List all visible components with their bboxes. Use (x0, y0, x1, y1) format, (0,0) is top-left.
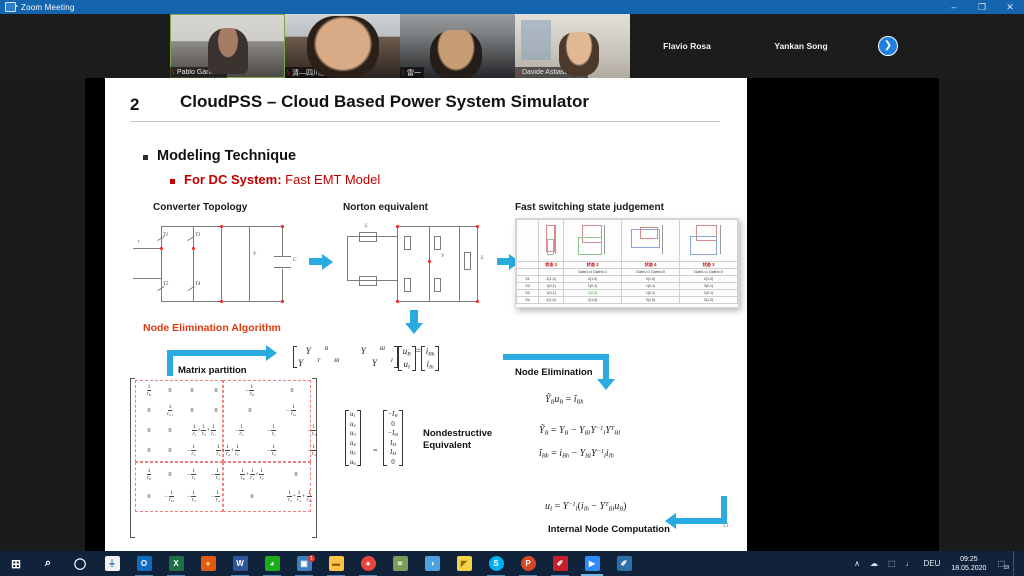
taskbar-microsoft-store[interactable]: ⏚ (96, 551, 128, 576)
task-view-button[interactable]: ◯ (64, 551, 96, 576)
table-cell: 2(1,0) (539, 297, 564, 304)
window-title: Zoom Meeting (21, 3, 75, 12)
switching-state-table: 状态 1 状态 2 状态 4 状态 3 Gate1=0 Gate4=1 Gate… (516, 219, 738, 304)
participant-name: Flavio Rosa (663, 41, 711, 51)
gate-header: Gate1=1 Gate4=0 (622, 269, 680, 276)
bullet-level2-rest: Fast EMT Model (282, 172, 381, 187)
participant-name: Davide Astiaso Ga... (522, 69, 585, 76)
gate-header (539, 269, 564, 276)
chrome-icon: ● (361, 556, 376, 571)
zoom-meeting-window: Zoom Meeting – ❐ ✕ \ Pablo Gándara \ 清—四… (0, 0, 1024, 576)
rhs-current-vector: −IW0 −IMIM IM0 (383, 410, 403, 466)
participant-thumbnails: \ Pablo Gándara \ 清—四川能源 \ 雷一 \ (170, 14, 918, 78)
table-row: S1 2(1,0) 2(1,0) 2(1,0) 2(1,0) (517, 276, 738, 283)
maps-icon: ⌗ (393, 556, 408, 571)
table-cell: 1(0,1) (622, 283, 680, 290)
slide-page-number: 11 (722, 522, 729, 529)
gate-header: Gate1=0 Gate4=1 (564, 269, 622, 276)
bullet-level2-bold: For DC System: (184, 172, 282, 187)
mic-muted-icon: \ (517, 69, 519, 77)
filmstrip-next-container: ❯ (858, 14, 918, 78)
equation-yb-definition: ỸB = YB − YBIY−1IYTBI (539, 425, 620, 437)
bullet-square-icon (143, 155, 148, 160)
taskbar-paint-3d[interactable]: ◑ (416, 551, 448, 576)
table-cell: 3(0,1) (680, 283, 738, 290)
slide-section-number: 2 (130, 95, 139, 115)
table-cell: 2(1,0) (564, 297, 622, 304)
clock[interactable]: 09:25 18.05.2020 (951, 555, 986, 573)
zoom-icon: ▶ (585, 556, 600, 571)
taskbar-wechat[interactable]: ◕ (256, 551, 288, 576)
taskbar-maps[interactable]: ⌗ (384, 551, 416, 576)
next-page-arrow-icon[interactable]: ❯ (878, 36, 898, 56)
taskbar-chrome[interactable]: ● (352, 551, 384, 576)
participant-name-badge: \ 雷一 (400, 67, 424, 78)
presentation-slide: 2 CloudPSS – Cloud Based Power System Si… (105, 78, 747, 551)
table-cell: 2(1,0) (680, 297, 738, 304)
taskbar-paint[interactable]: ✐ (608, 551, 640, 576)
equation-reduced-system: ỸBuB = ĩBh (545, 394, 583, 406)
skype-icon: S (489, 556, 504, 571)
taskbar-word[interactable]: W (224, 551, 256, 576)
window-titlebar: Zoom Meeting – ❐ ✕ (0, 0, 1024, 14)
paint-icon: ✐ (617, 556, 632, 571)
table-cell: 2(1,0) (564, 276, 622, 283)
participant-name: Pablo Gándara (177, 69, 224, 76)
tray-chevron-icon[interactable]: ∧ (854, 559, 860, 568)
taskbar-sticky-notes[interactable]: ◤ (448, 551, 480, 576)
participant-name-badge: \ 清—四川能源 (285, 67, 337, 78)
nondestructive-equivalent-line1: Nondestructive (423, 428, 492, 439)
mic-muted-icon: \ (402, 69, 404, 77)
state-circuit-thumb (564, 220, 622, 262)
windows-logo-icon: ⊞ (9, 556, 24, 571)
mic-muted-icon: \ (172, 69, 174, 77)
shared-screen-area: 2 CloudPSS – Cloud Based Power System Si… (0, 78, 1024, 551)
store-icon: ⏚ (105, 556, 120, 571)
notification-count: 19 (1003, 565, 1009, 571)
participant-tile[interactable]: \ Pablo Gándara (170, 14, 285, 78)
firefox-icon: ● (201, 556, 216, 571)
participant-tile[interactable]: \ 雷一 (400, 14, 515, 78)
show-desktop-button[interactable] (1013, 551, 1020, 576)
onedrive-icon[interactable]: ☁ (870, 559, 878, 568)
row-label: S3 (517, 290, 539, 297)
row-label: S4 (517, 297, 539, 304)
search-button[interactable]: ⌕ (32, 551, 64, 576)
network-icon[interactable]: ⬚ (888, 559, 896, 568)
norton-equivalent-diagram: L V L (341, 222, 501, 306)
bullet-level2: For DC System: Fast EMT Model (170, 172, 380, 187)
heading-fast-switching: Fast switching state judgement (515, 202, 664, 213)
table-cell: 1(0,1) (564, 283, 622, 290)
zoom-camera-icon (5, 2, 16, 12)
node-elimination-algorithm-label: Node Elimination Algorithm (143, 322, 281, 334)
window-controls: – ❐ ✕ (940, 0, 1024, 14)
mic-muted-icon: \ (287, 69, 289, 77)
action-center-icon[interactable]: ⬚ 19 (997, 559, 1005, 568)
equation-ibh-definition: ĩBh = iBh − YBIY−1IiIh (539, 448, 614, 460)
internal-node-computation-label: Internal Node Computation (548, 524, 670, 535)
task-view-icon: ◯ (73, 556, 88, 571)
unknown-vector: u1u2 u3u4 u5u6 (345, 410, 361, 466)
notification-badge: 1 (308, 555, 315, 562)
table-cell: 2(1,0) (680, 276, 738, 283)
wechat-icon: ◕ (265, 556, 280, 571)
language-indicator[interactable]: DEU (924, 559, 941, 568)
table-cell: 1(0,1) (622, 290, 680, 297)
matrix-partition-label: Matrix partition (178, 365, 247, 376)
paint3d-icon: ◑ (425, 556, 440, 571)
close-button[interactable]: ✕ (996, 0, 1024, 14)
taskbar-outlook[interactable]: O (128, 551, 160, 576)
pdf-icon: ✐ (553, 556, 568, 571)
participant-name: 清—四川能源 (292, 68, 334, 78)
table-row: S2 1(0,1) 1(0,1) 1(0,1) 3(0,1) (517, 283, 738, 290)
search-icon: ⌕ (41, 556, 56, 571)
participant-name: Yankan Song (774, 41, 827, 51)
expanded-matrix-equation: 1rE 0 0 0 −1rE 0 0 1rL1 0 0 0 −1rL1 0 (130, 378, 340, 538)
participant-tile[interactable]: \ Davide Astiaso Ga... (515, 14, 630, 78)
converter-topology-diagram: r T1 T2 T3 T4 V C (133, 222, 303, 306)
state-circuit-thumb (539, 220, 564, 262)
block-matrix-equation: YB YBI YTBI YI uBuI = iBhiIh (293, 346, 439, 371)
title-divider (130, 121, 720, 122)
clock-time: 09:25 (951, 555, 986, 564)
clock-date: 18.05.2020 (951, 564, 986, 573)
state-circuit-thumb (680, 220, 738, 262)
minimize-button[interactable]: – (940, 0, 968, 14)
node-elimination-label: Node Elimination (515, 367, 593, 378)
row-label: S1 (517, 276, 539, 283)
taskbar-zoom[interactable]: ▶ (576, 551, 608, 576)
heading-converter-topology: Converter Topology (153, 202, 247, 213)
state-header: 状态 3 (680, 262, 738, 269)
word-icon: W (233, 556, 248, 571)
taskbar-photos[interactable]: ▣1 (288, 551, 320, 576)
system-tray: ∧ ☁ ⬚ ♩ DEU 09:25 18.05.2020 ⬚ 19 (849, 551, 1024, 576)
equals-sign: = (373, 446, 378, 455)
gate-header: Gate1=1 Gate4=0 (680, 269, 738, 276)
table-row: S4 2(1,0) 2(1,0) 3(1,0) 2(1,0) (517, 297, 738, 304)
table-cell-highlighted: 1(0,0) (564, 290, 622, 297)
participant-name: 雷一 (407, 68, 421, 78)
start-button[interactable]: ⊞ (0, 551, 32, 576)
participant-tile[interactable]: \ 清—四川能源 (285, 14, 400, 78)
table-cell: 2(1,0) (622, 276, 680, 283)
bullet-level1: Modeling Technique (143, 148, 296, 164)
taskbar-file-explorer[interactable]: ▬ (320, 551, 352, 576)
table-row: S3 1(0,1) 1(0,0) 1(0,1) 1(0,1) (517, 290, 738, 297)
participant-tile-audio-only[interactable]: Yankan Song (744, 14, 858, 78)
file-explorer-icon: ▬ (329, 556, 344, 571)
outlook-icon: O (137, 556, 152, 571)
taskbar-firefox[interactable]: ● (192, 551, 224, 576)
participant-filmstrip: \ Pablo Gándara \ 清—四川能源 \ 雷一 \ (0, 14, 1024, 78)
taskbar-pdf-reader[interactable]: ✐ (544, 551, 576, 576)
state-circuit-thumb (622, 220, 680, 262)
table-cell: 1(0,1) (539, 283, 564, 290)
participant-name-badge: \ Pablo Gándara (170, 67, 227, 78)
nondestructive-equivalent-line2: Equivalent (423, 440, 471, 451)
maximize-button[interactable]: ❐ (968, 0, 996, 14)
state-header: 状态 1 (539, 262, 564, 269)
switching-state-table-card: 状态 1 状态 2 状态 4 状态 3 Gate1=0 Gate4=1 Gate… (515, 218, 739, 308)
page-title: CloudPSS – Cloud Based Power System Simu… (180, 92, 589, 112)
taskbar-powerpoint[interactable]: P (512, 551, 544, 576)
state-header: 状态 2 (564, 262, 622, 269)
heading-norton-equivalent: Norton equivalent (343, 202, 428, 213)
windows-taskbar: ⊞ ⌕ ◯ ⏚ O X ● W ◕ ▣1 ▬ ● ⌗ ◑ ◤ S P ✐ ▶ ✐… (0, 551, 1024, 576)
table-cell: 3(1,0) (622, 297, 680, 304)
participant-tile-audio-only[interactable]: Flavio Rosa (630, 14, 744, 78)
table-cell: 1(0,1) (539, 290, 564, 297)
powerpoint-icon: P (521, 556, 536, 571)
taskbar-excel[interactable]: X (160, 551, 192, 576)
equation-internal-node: uI = Y−1I(iIh − YTBIuB) (545, 501, 627, 513)
taskbar-skype[interactable]: S (480, 551, 512, 576)
sticky-notes-icon: ◤ (457, 556, 472, 571)
table-cell: 1(0,1) (680, 290, 738, 297)
table-cell: 2(1,0) (539, 276, 564, 283)
bullet-level1-label: Modeling Technique (157, 148, 296, 164)
row-label: S2 (517, 283, 539, 290)
state-header: 状态 4 (622, 262, 680, 269)
volume-icon[interactable]: ♩ (906, 559, 914, 568)
participant-name-badge: \ Davide Astiaso Ga... (515, 67, 588, 78)
bullet-square-icon (170, 179, 175, 184)
excel-icon: X (169, 556, 184, 571)
